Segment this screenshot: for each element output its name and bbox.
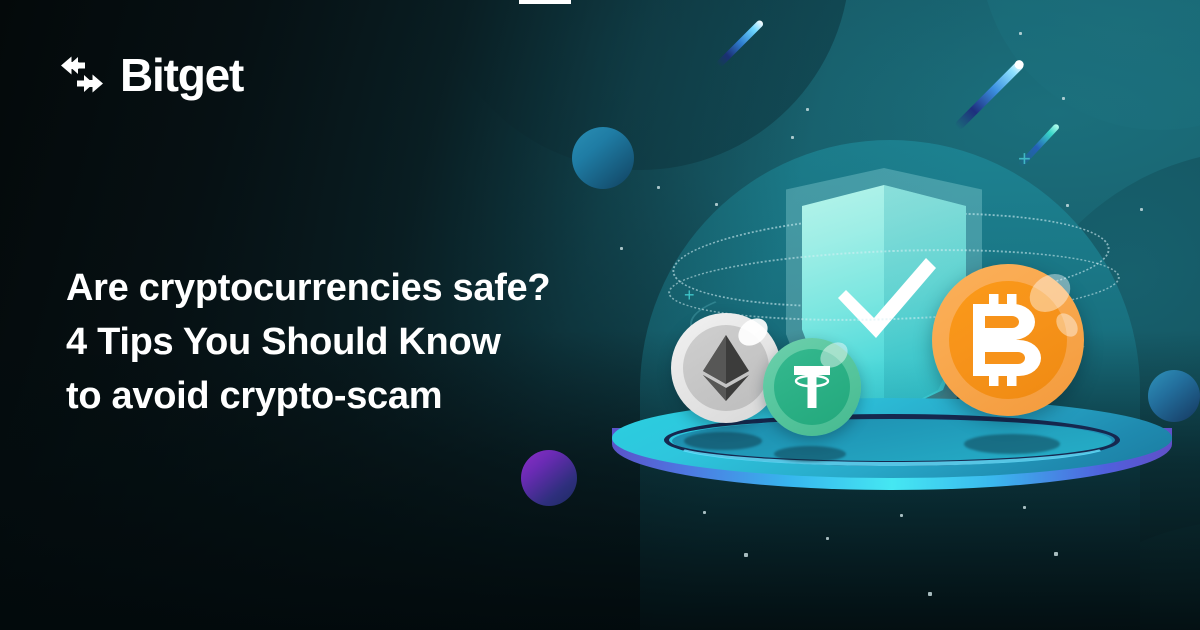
star-dot (715, 203, 718, 206)
coin-shadow (774, 446, 846, 462)
star-dot (1066, 204, 1069, 207)
banner: + + (0, 0, 1200, 630)
headline-line-1: Are cryptocurrencies safe? (66, 262, 626, 316)
tether-glyph (763, 338, 861, 436)
star-dot (1054, 552, 1058, 556)
brand-logo[interactable]: Bitget (58, 48, 243, 102)
tether-coin-icon (763, 338, 861, 436)
top-edge-strip (519, 0, 571, 4)
sphere-purple-icon (521, 450, 577, 506)
bitcoin-glyph (932, 264, 1084, 416)
coin-shadow (684, 432, 762, 450)
star-dot (703, 511, 706, 514)
star-dot (826, 537, 829, 540)
star-dot (657, 186, 660, 189)
star-dot (1140, 208, 1143, 211)
sphere-blue-icon (572, 127, 634, 189)
headline-line-3: to avoid crypto-scam (66, 370, 626, 424)
star-dot (1019, 32, 1022, 35)
star-dot (744, 553, 748, 557)
star-dot (900, 514, 903, 517)
bitget-double-arrow-icon (58, 51, 106, 99)
star-dot (928, 592, 932, 596)
coin-shadow (964, 434, 1060, 454)
star-dot (1062, 97, 1065, 100)
brand-name: Bitget (120, 48, 243, 102)
plus-sparkle-icon: + (1018, 148, 1031, 170)
star-dot (806, 108, 809, 111)
star-dot (620, 247, 623, 250)
bitcoin-coin-icon (932, 264, 1084, 416)
page-title: Are cryptocurrencies safe? 4 Tips You Sh… (66, 262, 626, 424)
headline-line-2: 4 Tips You Should Know (66, 316, 626, 370)
star-dot (791, 136, 794, 139)
